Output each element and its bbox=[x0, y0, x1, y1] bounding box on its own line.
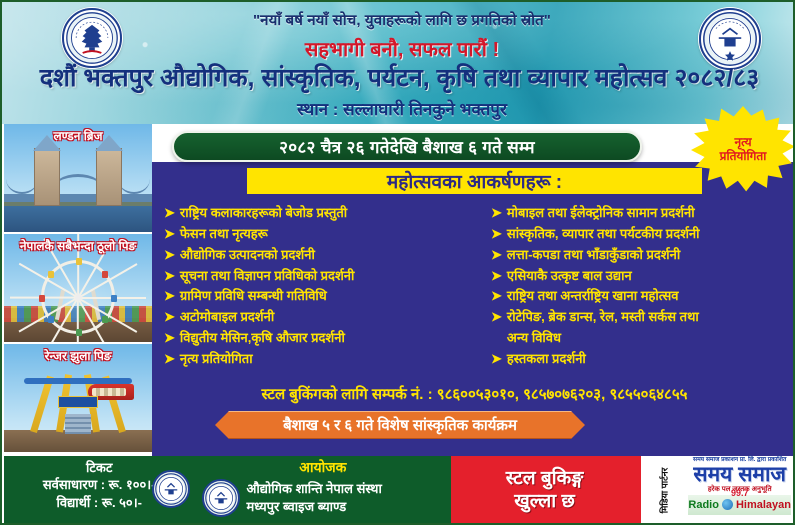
list-item: ➤एसियाकै उत्कृष्ट बाल उद्यान bbox=[491, 267, 795, 286]
bullet-arrow-icon: ➤ bbox=[164, 329, 175, 348]
list-item: ➤सांस्कृतिक, व्यापार तथा पर्यटकीय प्रदर्… bbox=[491, 225, 795, 244]
bridge-tower bbox=[96, 148, 122, 206]
media-partner-section: मिडिया पार्टनर समय समाज प्रकाशन प्रा. लि… bbox=[638, 456, 793, 525]
list-item-label: सूचना तथा विज्ञापन प्रविधिको प्रदर्शनी bbox=[180, 267, 354, 286]
bullet-arrow-icon: ➤ bbox=[164, 287, 175, 306]
stall-booking-line-1: स्टल बुकिङ्ग bbox=[506, 468, 584, 491]
list-item: ➤औद्योगिक उत्पादनको प्रदर्शनी bbox=[164, 246, 485, 265]
media-partner-logo: समय समाज प्रकाशन प्रा. लि. द्वारा प्रकाश… bbox=[686, 456, 793, 525]
bullet-arrow-icon: ➤ bbox=[491, 308, 502, 327]
swing-signboard bbox=[58, 396, 98, 408]
bullet-arrow-icon: ➤ bbox=[164, 350, 175, 369]
date-banner-text: २०८२ चैत्र २६ गतेदेखि बैशाख ६ गते सम्म bbox=[279, 135, 535, 158]
list-item: ➤विद्युतीय मेसिन,कृषि औजार प्रदर्शनी bbox=[164, 329, 485, 348]
list-item-label: एसियाकै उत्कृष्ट बाल उद्यान bbox=[507, 267, 632, 286]
bullet-arrow-icon: ➤ bbox=[491, 350, 502, 369]
list-item-label: मोबाइल तथा ईलेक्ट्रोनिक सामान प्रदर्शनी bbox=[507, 204, 695, 223]
list-item: ➤अटोमोबाइल प्रदर्शनी bbox=[164, 308, 485, 327]
bridge-deck bbox=[4, 194, 152, 202]
list-item-label: रोटेपिङ, ब्रेक डान्स, रेल, मस्ती सर्कस त… bbox=[507, 308, 699, 327]
page-title: दशौं भक्तपुर औद्योगिक, सांस्कृतिक, पर्यट… bbox=[6, 60, 793, 94]
list-item-label: अटोमोबाइल प्रदर्शनी bbox=[180, 308, 274, 327]
ferris-wheel-icon bbox=[41, 260, 115, 334]
bridge-cable bbox=[118, 164, 150, 194]
list-item-label: हस्तकला प्रदर्शनी bbox=[507, 350, 586, 369]
poster-footer: टिकट सर्वसाधारण : रू. १००।- विद्यार्थी :… bbox=[4, 456, 793, 525]
radio-station-name: Himalayan bbox=[736, 499, 791, 511]
list-item-label: नृत्य प्रतियोगिता bbox=[180, 350, 253, 369]
list-item: ➤ग्रामिण प्रविधि सम्बन्धी गतिविधि bbox=[164, 287, 485, 306]
starburst-text: नृत्य प्रतियोगिता bbox=[720, 136, 767, 164]
list-item-label: फेसन तथा नृत्यहरू bbox=[180, 225, 268, 244]
venue-text: स्थान : सल्लाघारी तिनकुने भक्तपुर bbox=[152, 97, 652, 120]
government-emblem-icon bbox=[62, 8, 122, 68]
organization-seal-icon bbox=[202, 479, 240, 517]
bullet-arrow-icon: ➤ bbox=[164, 308, 175, 327]
bullet-arrow-icon: ➤ bbox=[491, 225, 502, 244]
photo-column: लण्डन ब्रिज bbox=[4, 124, 152, 456]
attractions-column-right: ➤मोबाइल तथा ईलेक्ट्रोनिक सामान प्रदर्शनी… bbox=[485, 204, 795, 376]
starburst-line-1: नृत्य bbox=[720, 136, 767, 150]
list-item-label: ग्रामिण प्रविधि सम्बन्धी गतिविधि bbox=[180, 287, 327, 306]
organizer-body: औद्योगिक शान्ति नेपाल संस्था मध्यपुर ब्व… bbox=[194, 477, 451, 517]
london-bridge-photo: लण्डन ब्रिज bbox=[4, 124, 152, 234]
date-banner: २०८२ चैत्र २६ गतेदेखि बैशाख ६ गते सम्म bbox=[172, 131, 642, 162]
list-item: ➤रोटेपिङ, ब्रेक डान्स, रेल, मस्ती सर्कस … bbox=[491, 308, 795, 327]
attractions-title: महोत्सवका आकर्षणहरू : bbox=[387, 168, 562, 194]
organizer-name: औद्योगिक शान्ति नेपाल संस्था bbox=[246, 480, 381, 498]
bullet-arrow-icon: ➤ bbox=[164, 267, 175, 286]
ferris-wheel-photo: नेपालकै सबैभन्दा ठूलो पिङ bbox=[4, 234, 152, 344]
list-item: ➤मोबाइल तथा ईलेक्ट्रोनिक सामान प्रदर्शनी bbox=[491, 204, 795, 223]
organizer-heading: आयोजक bbox=[194, 458, 451, 477]
contact-line[interactable]: स्टल बुकिंगको लागि सम्पर्क नं. : ९८६००५३… bbox=[154, 381, 795, 407]
ticket-section: टिकट सर्वसाधारण : रू. १००।- विद्यार्थी :… bbox=[4, 456, 194, 525]
list-item-label: राष्ट्रिय कलाकारहरूको बेजोड प्रस्तुती bbox=[180, 204, 347, 223]
swing-stairs bbox=[65, 414, 91, 434]
attractions-title-bar: महोत्सवका आकर्षणहरू : bbox=[247, 168, 702, 194]
contact-text: स्टल बुकिंगको लागि सम्पर्क नं. : ९८६००५३… bbox=[262, 384, 688, 404]
list-item: ➤राष्ट्रिय तथा अन्तर्राष्ट्रिय खाना महोत… bbox=[491, 287, 795, 306]
bullet-arrow-icon: ➤ bbox=[491, 204, 502, 223]
organizer-subname: मध्यपुर ब्वाइज ब्याण्ड bbox=[246, 498, 381, 516]
stall-booking-line-2: खुल्ला छ bbox=[514, 491, 575, 514]
starburst-line-2: प्रतियोगिता bbox=[720, 150, 767, 164]
list-item-label: सांस्कृतिक, व्यापार तथा पर्यटकीय प्रदर्श… bbox=[507, 225, 700, 244]
bullet-arrow-icon: ➤ bbox=[164, 204, 175, 223]
radio-word: Radio bbox=[688, 499, 719, 511]
media-brand-name: समय समाज bbox=[688, 464, 791, 485]
radio-frequency: 99.7 bbox=[731, 488, 749, 498]
bridge-tower bbox=[34, 148, 60, 206]
poster-header: "नयाँ बर्ष नयाँ सोच, युवाहरूको लागि छ प्… bbox=[2, 2, 795, 124]
photo-caption: नेपालकै सबैभन्दा ठूलो पिङ bbox=[4, 237, 152, 254]
list-item: ➤राष्ट्रिय कलाकारहरूको बेजोड प्रस्तुती bbox=[164, 204, 485, 223]
bridge-water bbox=[4, 206, 152, 232]
organizer-names: औद्योगिक शान्ति नेपाल संस्था मध्यपुर ब्व… bbox=[246, 480, 381, 515]
media-partner-label: मिडिया पार्टनर bbox=[657, 468, 670, 514]
list-item-label: औद्योगिक उत्पादनको प्रदर्शनी bbox=[180, 246, 315, 265]
list-item: ➤फेसन तथा नृत्यहरू bbox=[164, 225, 485, 244]
cultural-program-text: बैशाख ५ र ६ गते विशेष सांस्कृतिक कार्यक्… bbox=[283, 415, 517, 435]
dance-competition-badge: नृत्य प्रतियोगिता bbox=[691, 106, 795, 194]
media-partner-label-vertical: मिडिया पार्टनर bbox=[641, 456, 687, 525]
organization-seal-icon bbox=[152, 470, 190, 508]
bullet-arrow-icon: ➤ bbox=[491, 267, 502, 286]
globe-icon bbox=[722, 499, 733, 510]
ranger-swing-photo: रेन्जर झुला पिङ bbox=[4, 344, 152, 454]
list-item: ➤लत्ता-कपडा तथा भाँडाकुँडाको प्रदर्शनी bbox=[491, 246, 795, 265]
photo-caption: रेन्जर झुला पिङ bbox=[4, 347, 152, 364]
photo-caption: लण्डन ब्रिज bbox=[4, 127, 152, 144]
stall-booking-section[interactable]: स्टल बुकिङ्ग खुल्ला छ bbox=[451, 456, 638, 525]
radio-himalayan-logo: 99.7 Radio Himalayan bbox=[688, 495, 791, 515]
list-item-label: विद्युतीय मेसिन,कृषि औजार प्रदर्शनी bbox=[180, 329, 345, 348]
cultural-program-banner: बैशाख ५ र ६ गते विशेष सांस्कृतिक कार्यक्… bbox=[215, 411, 585, 439]
list-item: ➤हस्तकला प्रदर्शनी bbox=[491, 350, 795, 369]
list-item-label: राष्ट्रिय तथा अन्तर्राष्ट्रिय खाना महोत्… bbox=[507, 287, 679, 306]
bullet-arrow-icon: ➤ bbox=[164, 225, 175, 244]
bullet-arrow-icon: ➤ bbox=[491, 287, 502, 306]
list-item-continuation: ➤अन्य विविध bbox=[491, 329, 795, 348]
bullet-arrow-icon: ➤ bbox=[164, 246, 175, 265]
list-item: ➤सूचना तथा विज्ञापन प्रविधिको प्रदर्शनी bbox=[164, 267, 485, 286]
list-item-label: अन्य विविध bbox=[507, 329, 561, 348]
attractions-columns: ➤राष्ट्रिय कलाकारहरूको बेजोड प्रस्तुती ➤… bbox=[158, 204, 795, 376]
poster-tagline: "नयाँ बर्ष नयाँ सोच, युवाहरूको लागि छ प्… bbox=[152, 10, 652, 30]
list-item: ➤नृत्य प्रतियोगिता bbox=[164, 350, 485, 369]
attractions-column-left: ➤राष्ट्रिय कलाकारहरूको बेजोड प्रस्तुती ➤… bbox=[158, 204, 485, 376]
bullet-arrow-icon: ➤ bbox=[491, 246, 502, 265]
list-item-label: लत्ता-कपडा तथा भाँडाकुँडाको प्रदर्शनी bbox=[507, 246, 680, 265]
festival-poster: "नयाँ बर्ष नयाँ सोच, युवाहरूको लागि छ प्… bbox=[0, 0, 795, 525]
organizer-section: आयोजक औद्योगिक शान्ति नेपाल संस्था मध्यप… bbox=[194, 456, 451, 525]
poster-subtagline: सहभागी बनौ, सफल पारौं ! bbox=[152, 35, 652, 62]
